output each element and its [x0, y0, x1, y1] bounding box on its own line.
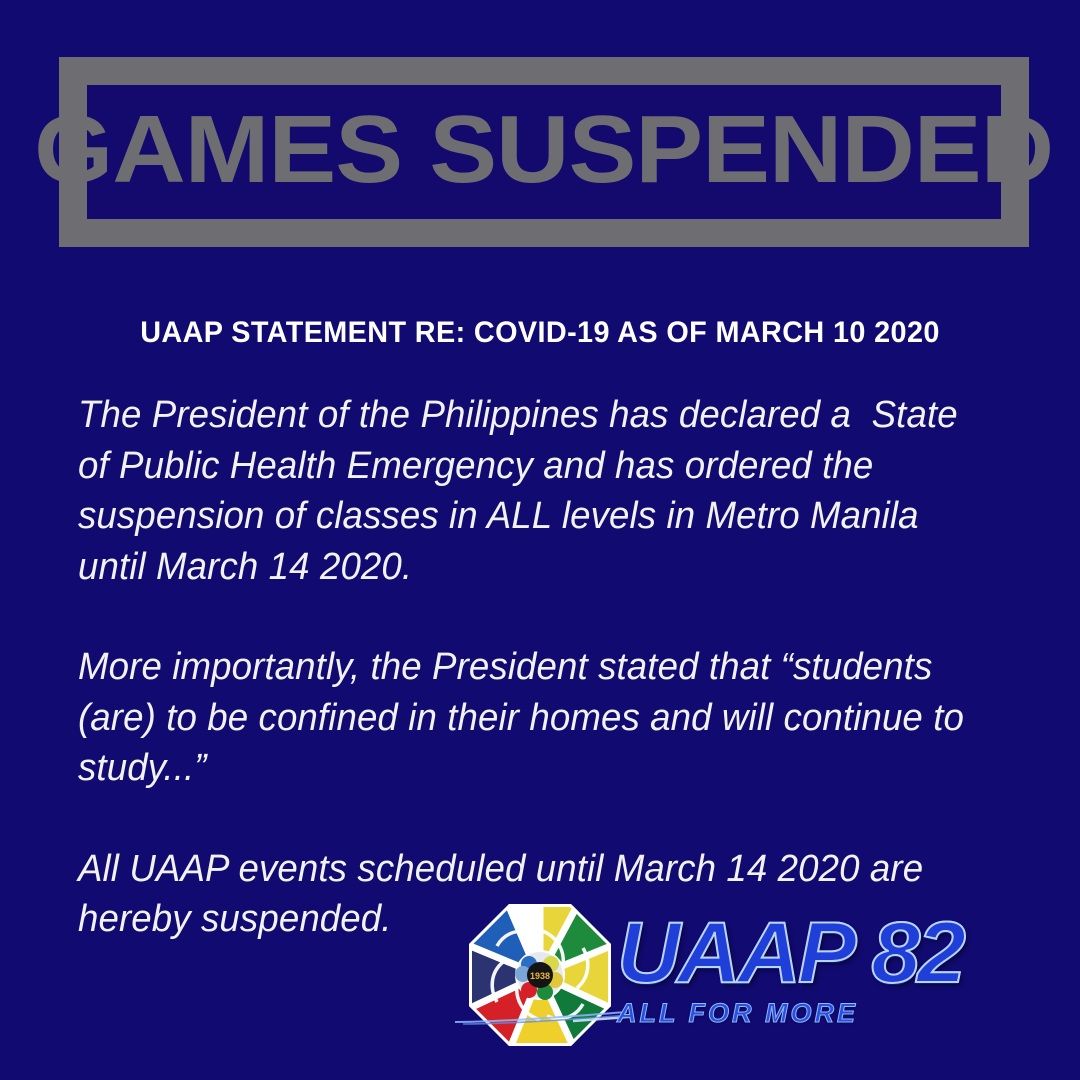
statement-subtitle: UAAP STATEMENT RE: COVID-19 AS OF MARCH … — [22, 316, 1059, 350]
statement-paragraph-2: More importantly, the President stated t… — [78, 642, 990, 794]
statement-body: The President of the Philippines has dec… — [78, 390, 990, 945]
uaap-octagon-emblem-icon: 1938 — [465, 900, 615, 1050]
poster-canvas: GAMES SUSPENDED UAAP STATEMENT RE: COVID… — [0, 0, 1080, 1080]
uaap-tagline: ALL FOR MORE — [617, 998, 858, 1029]
uaap-swoosh-icon — [453, 1010, 629, 1026]
svg-text:1938: 1938 — [530, 971, 550, 981]
uaap-logo-lockup: 1938 UAAP 82 ALL FOR MORE — [465, 898, 985, 1056]
page-title: GAMES SUSPENDED — [35, 102, 1054, 198]
header-banner: GAMES SUSPENDED — [59, 57, 1029, 247]
uaap-wordmark: UAAP 82 — [617, 910, 985, 1050]
statement-paragraph-1: The President of the Philippines has dec… — [78, 390, 990, 592]
uaap-wordmark-text: UAAP 82 — [617, 910, 963, 996]
emblem-hub-icon: 1938 — [515, 951, 564, 1000]
header-banner-inner-frame: GAMES SUSPENDED — [77, 75, 1011, 229]
